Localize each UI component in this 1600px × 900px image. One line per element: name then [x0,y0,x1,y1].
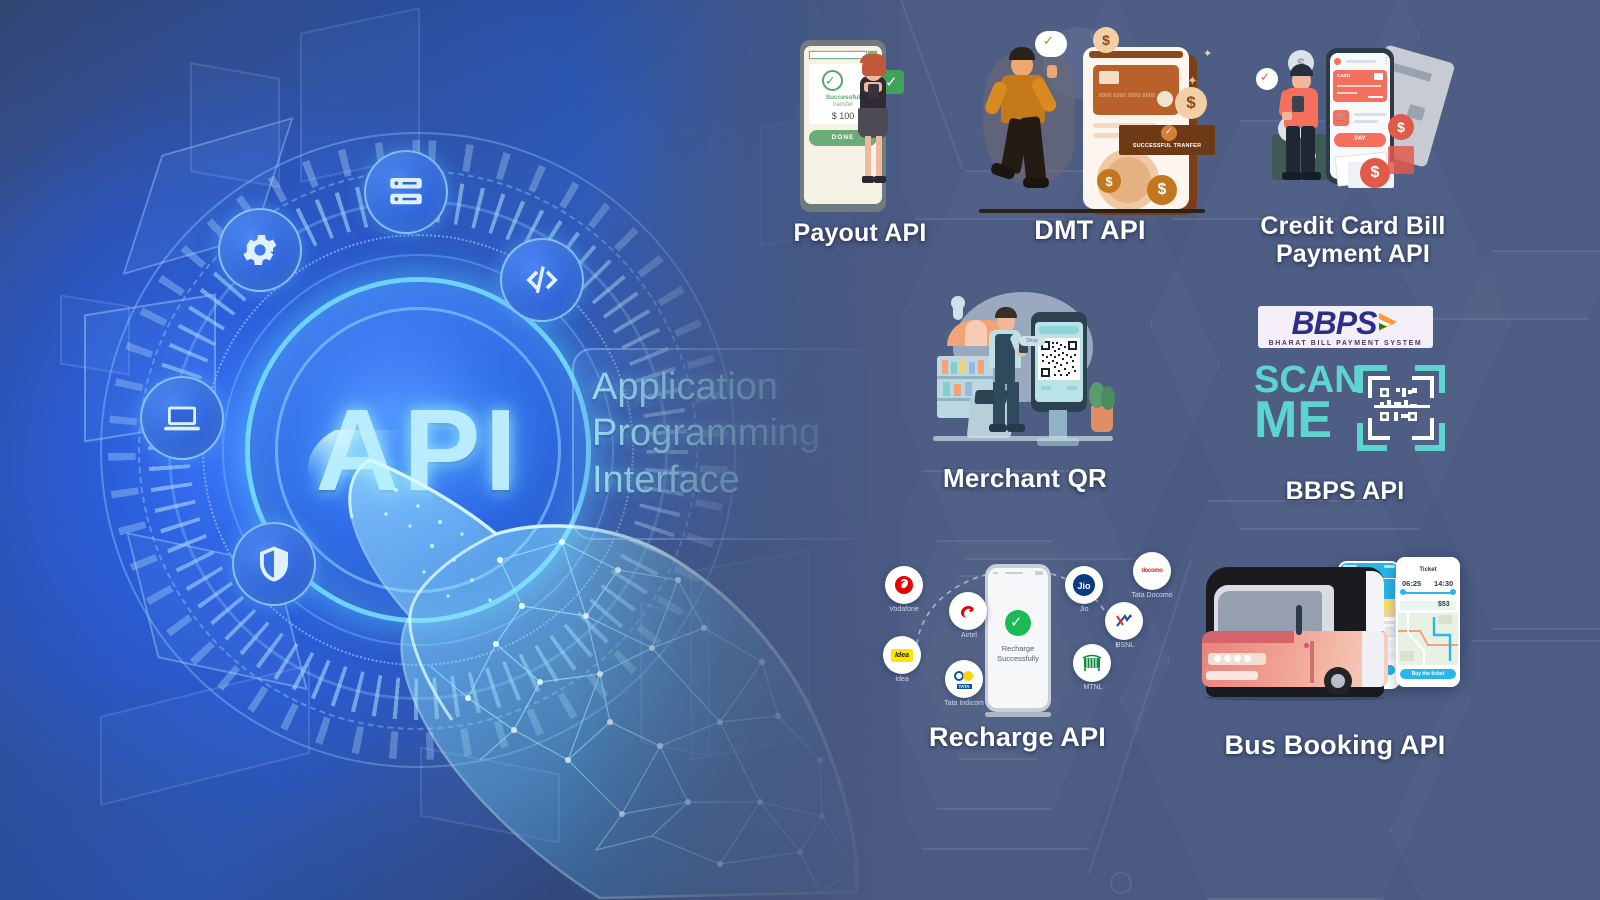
credit-card-bill-illustration: ⋮ CARD 🛒 PAY $ $ $ $ [1248,30,1458,210]
bbps-logo-word: BBPS [1292,307,1377,339]
bus-time-to: 14:30 [1434,579,1453,588]
operator-label-bsnl: BSNL [1098,642,1152,650]
gear-icon[interactable] [218,208,302,292]
operator-label-jio: Jio [1057,606,1111,614]
recharge-status-line-1: Recharge [988,644,1048,653]
bus-booking-illustration: Search ‹ Ticket 06:25 14:30 $53 Buy the [1200,545,1470,730]
tile-credit-card-bill-api[interactable]: ⋮ CARD 🛒 PAY $ $ $ $ [1248,30,1458,268]
tile-credit-card-bill-title: Credit Card Bill Payment API [1248,212,1458,268]
operator-bsnl [1105,602,1143,640]
laptop-icon[interactable] [140,376,224,460]
operator-label-idea: Idea [875,676,929,684]
operator-tata-docomo: docomo [1133,552,1171,590]
bus-price: $53 [1438,601,1450,608]
operator-label-tata-indicom: Tata Indicom [937,700,991,708]
qr-scan-frame-icon [1356,362,1446,454]
svg-text:Jio: Jio [1077,581,1091,591]
tile-recharge-api[interactable]: ✓ Recharge Successfully Vodafone Airtel … [875,548,1160,752]
tile-bus-booking-api[interactable]: Search ‹ Ticket 06:25 14:30 $53 Buy the [1200,545,1470,760]
tile-payout-api[interactable]: ✓ Successful transfer $ 100 DONE ✓ Payou… [770,30,950,247]
operator-vodafone [885,566,923,604]
operator-idea: Idea [883,636,921,674]
credit-card-pay-button[interactable]: PAY [1334,136,1386,142]
tile-merchant-qr[interactable]: Shop Merchant QR [925,290,1125,493]
operator-label-vodafone: Vodafone [877,606,931,614]
bus-ticket-title: Ticket [1396,567,1460,573]
bus-time-from: 06:25 [1402,579,1421,588]
merchant-shop-sign: Shop [1019,338,1045,344]
recharge-illustration: ✓ Recharge Successfully Vodafone Airtel … [875,548,1160,728]
tile-dmt-title: DMT API [965,215,1215,245]
tile-payout-title: Payout API [770,219,950,247]
operator-label-mtnl: MTNL [1066,684,1120,692]
operator-jio: Jio [1065,566,1103,604]
operator-airtel [949,592,987,630]
bbps-logo-tagline: BHARAT BILL PAYMENT SYSTEM [1269,340,1423,347]
credit-card-label: CARD [1337,73,1350,78]
dmt-card-number: 0000 0000 0000 0000 [1099,93,1155,99]
poster-canvas: API [0,0,1600,900]
bus-buy-ticket-button[interactable]: Buy the ticket [1400,671,1456,677]
operator-tata-indicom: TATA [945,660,983,698]
tile-dmt-api[interactable]: 0000 0000 0000 0000 ✓ SUCCESSFUL TRANFER… [965,25,1215,245]
tile-bus-booking-title: Bus Booking API [1200,730,1470,760]
api-hero-panel: API [0,0,900,900]
recharge-status-line-2: Successfully [988,654,1048,663]
tile-merchant-qr-title: Merchant QR [925,464,1125,493]
server-icon[interactable] [364,150,448,234]
bbps-scan-line-2: ME [1254,398,1332,443]
bbps-illustration: BBPS BHARAT BILL PAYMENT SYSTEM SCAN ME [1240,300,1450,475]
operator-mtnl [1073,644,1111,682]
tile-bbps-api[interactable]: BBPS BHARAT BILL PAYMENT SYSTEM SCAN ME [1240,300,1450,505]
dmt-illustration: 0000 0000 0000 0000 ✓ SUCCESSFUL TRANFER… [965,25,1215,215]
dmt-badge-label: SUCCESSFUL TRANFER [1119,143,1215,149]
merchant-qr-illustration: Shop [925,290,1125,460]
bbps-logo: BBPS BHARAT BILL PAYMENT SYSTEM [1258,306,1433,348]
payout-illustration: ✓ Successful transfer $ 100 DONE ✓ [770,30,950,215]
operator-label-airtel: Airtel [942,632,996,640]
operator-label-tata-docomo: Tata Docomo [1125,592,1179,600]
tile-bbps-title: BBPS API [1240,477,1450,505]
